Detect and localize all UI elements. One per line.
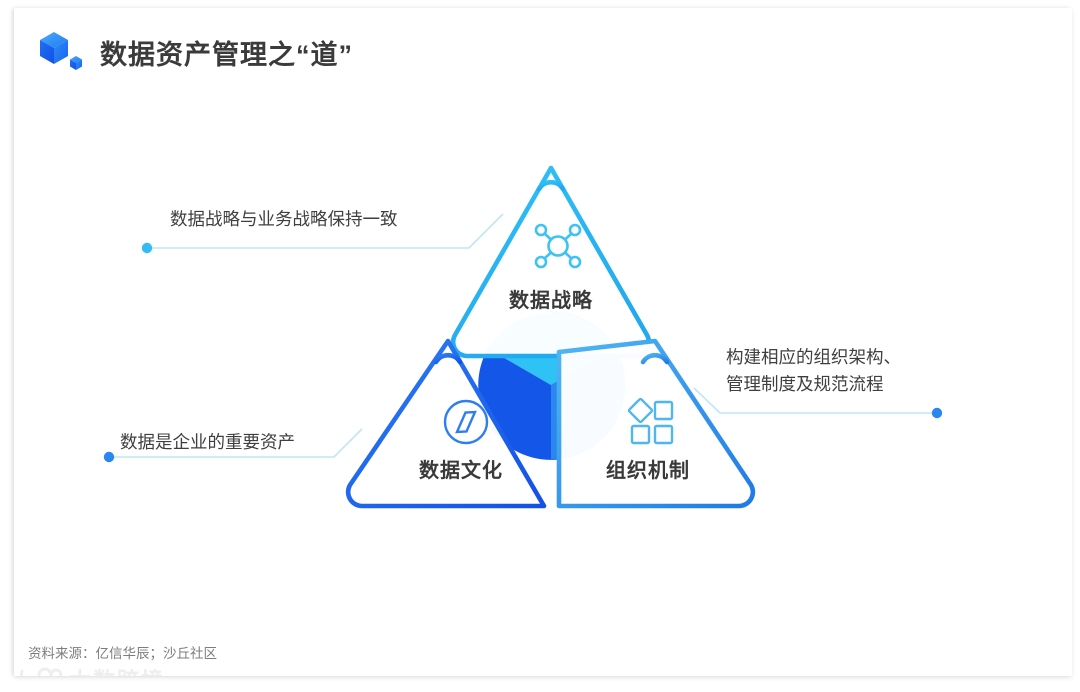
three-part-diagram <box>14 8 1072 676</box>
annotation-culture: 数据是企业的重要资产 <box>120 429 295 456</box>
annotation-culture-line-1: 数据是企业的重要资产 <box>120 429 295 456</box>
node-label-strategy: 数据战略 <box>509 284 593 313</box>
dashukuajing-logo-icon <box>18 666 62 676</box>
annotation-strategy: 数据战略与业务战略保持一致 <box>170 206 398 233</box>
connector-dot-culture <box>104 452 114 462</box>
node-label-organization: 组织机制 <box>606 454 690 483</box>
watermark-text: 大数跨境 <box>69 663 165 676</box>
annotation-strategy-line-1: 数据战略与业务战略保持一致 <box>170 206 398 233</box>
connector-dot-organization <box>932 408 942 418</box>
annotation-organization-line-2: 管理制度及规范流程 <box>726 371 901 398</box>
node-label-culture: 数据文化 <box>419 454 503 483</box>
source-note: 资料来源：亿信华辰；沙丘社区 <box>28 642 217 662</box>
node-strategy[interactable] <box>453 168 649 356</box>
watermark: 大数跨境 <box>18 663 165 676</box>
annotation-organization: 构建相应的组织架构、 管理制度及规范流程 <box>726 344 901 398</box>
annotation-organization-line-1: 构建相应的组织架构、 <box>726 344 901 371</box>
connector-dot-strategy <box>142 243 152 253</box>
slide-canvas: 数据资产管理之“道” <box>14 8 1072 676</box>
